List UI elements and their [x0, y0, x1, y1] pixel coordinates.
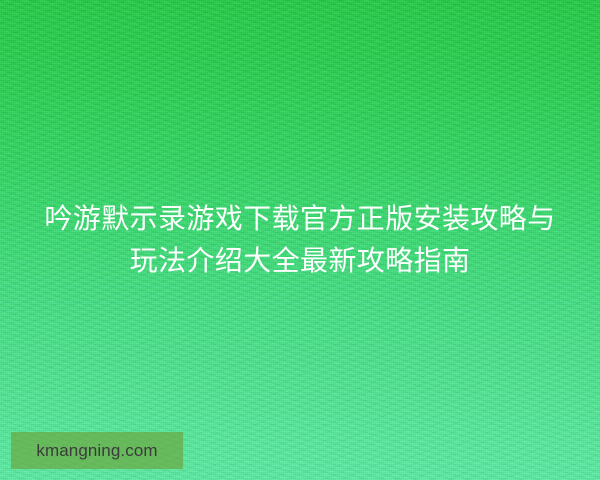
watermark-text: kmangning.com [36, 442, 157, 459]
game-banner-image: 吟游默示录游戏下载官方正版安装攻略与 玩法介绍大全最新攻略指南 kmangnin… [0, 0, 600, 480]
watermark-badge: kmangning.com [11, 432, 183, 469]
banner-title: 吟游默示录游戏下载官方正版安装攻略与 玩法介绍大全最新攻略指南 [0, 0, 600, 480]
banner-title-line-1: 吟游默示录游戏下载官方正版安装攻略与 [44, 198, 555, 240]
banner-title-line-2: 玩法介绍大全最新攻略指南 [130, 240, 471, 282]
